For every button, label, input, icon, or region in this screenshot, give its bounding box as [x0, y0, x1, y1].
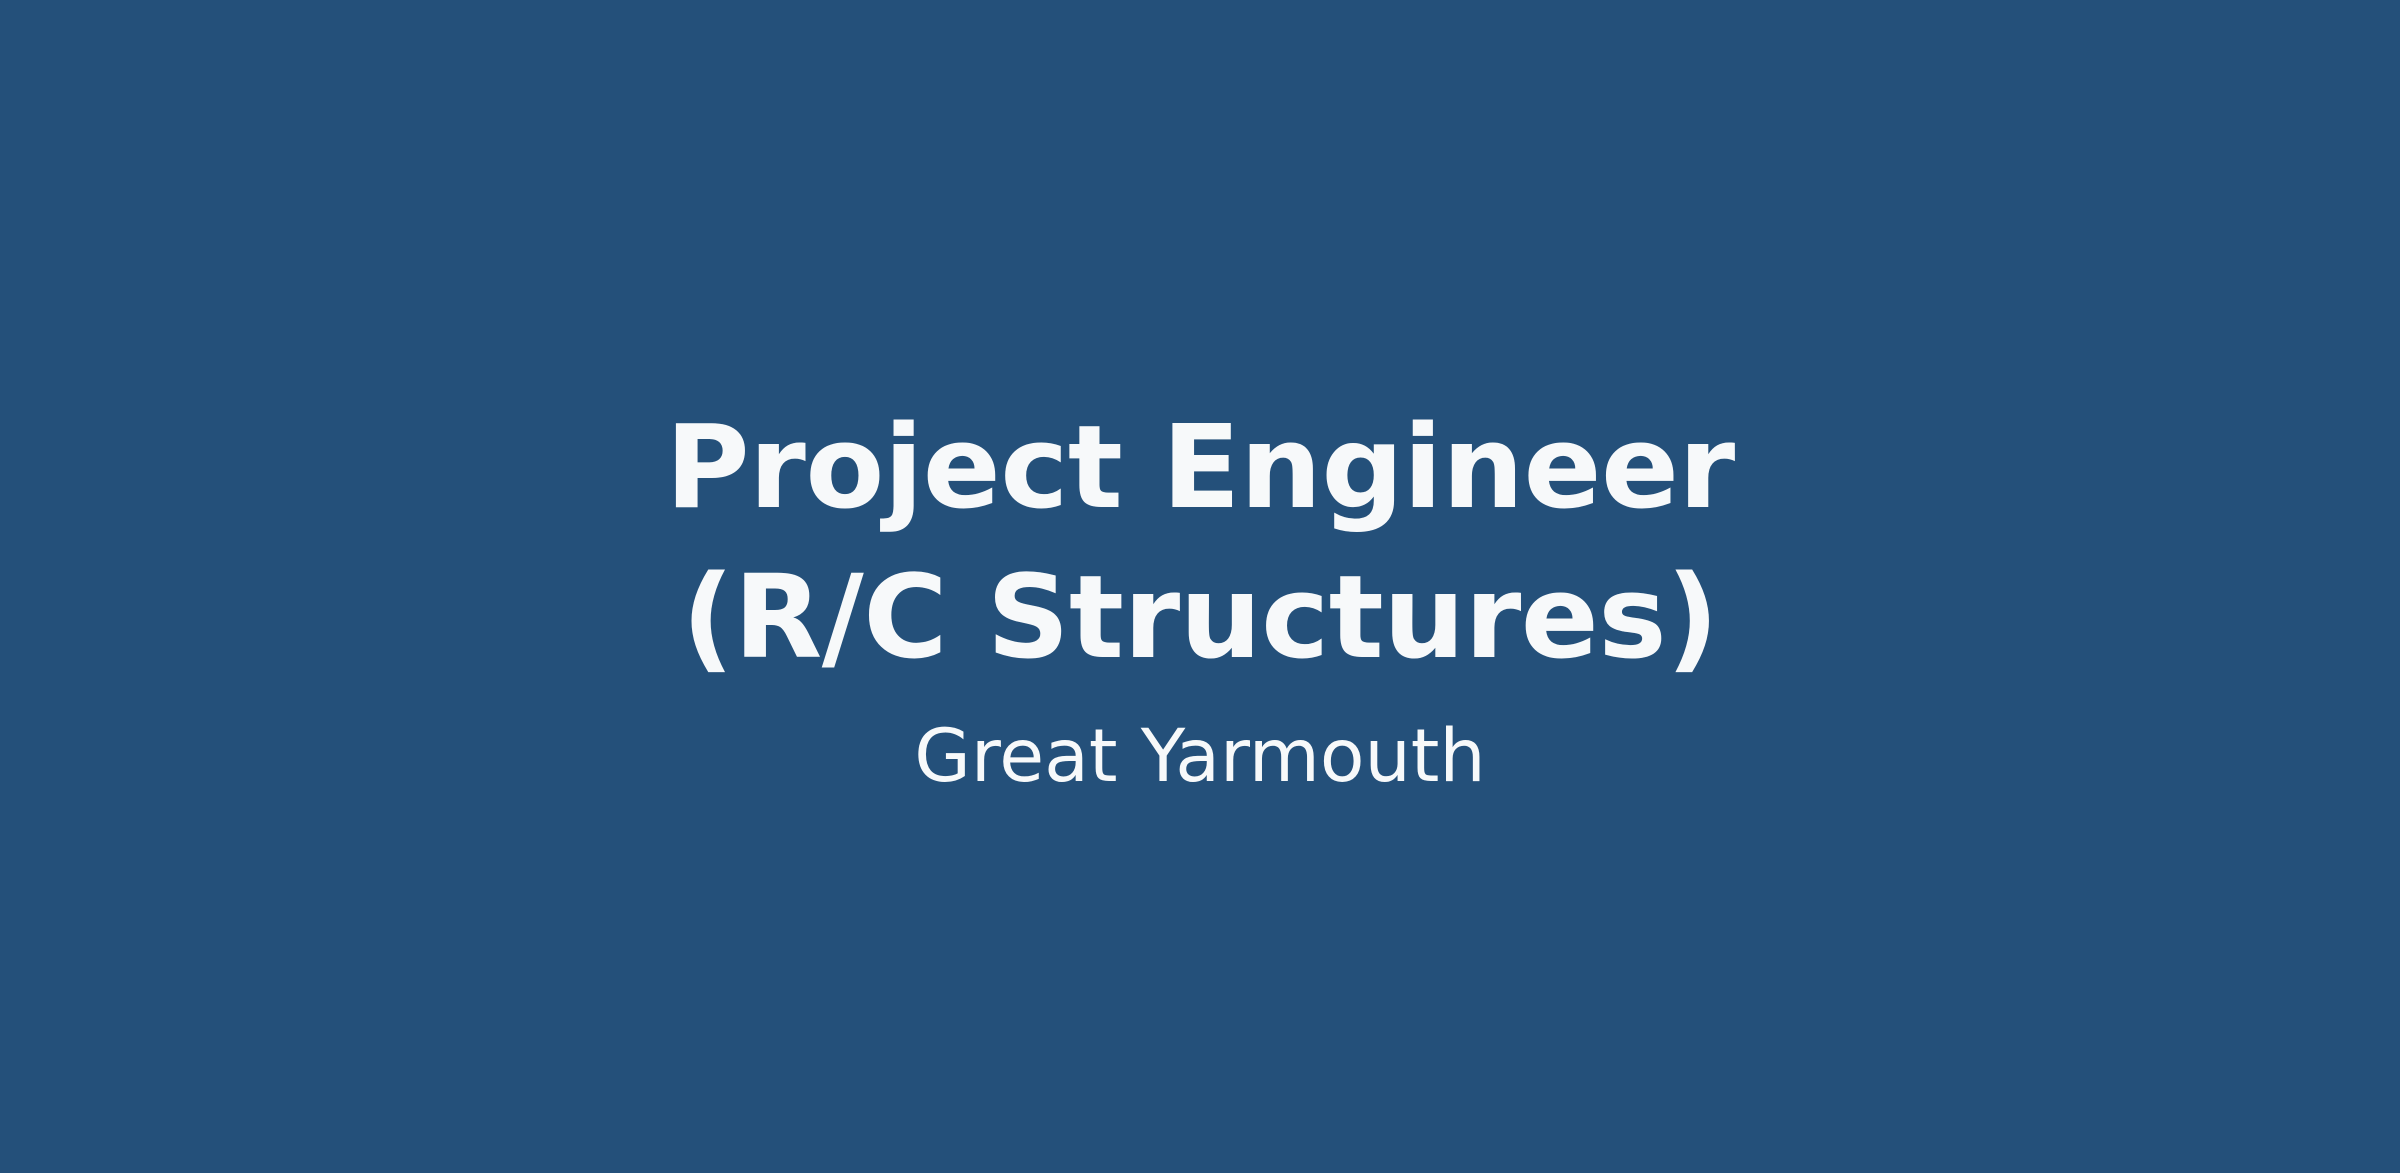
hero-content-block: Project Engineer (R/C Structures) Great … — [570, 394, 1830, 802]
job-title: Project Engineer (R/C Structures) — [570, 394, 1830, 693]
job-location: Great Yarmouth — [570, 711, 1830, 802]
job-hero-banner: Project Engineer (R/C Structures) Great … — [0, 0, 2400, 1173]
